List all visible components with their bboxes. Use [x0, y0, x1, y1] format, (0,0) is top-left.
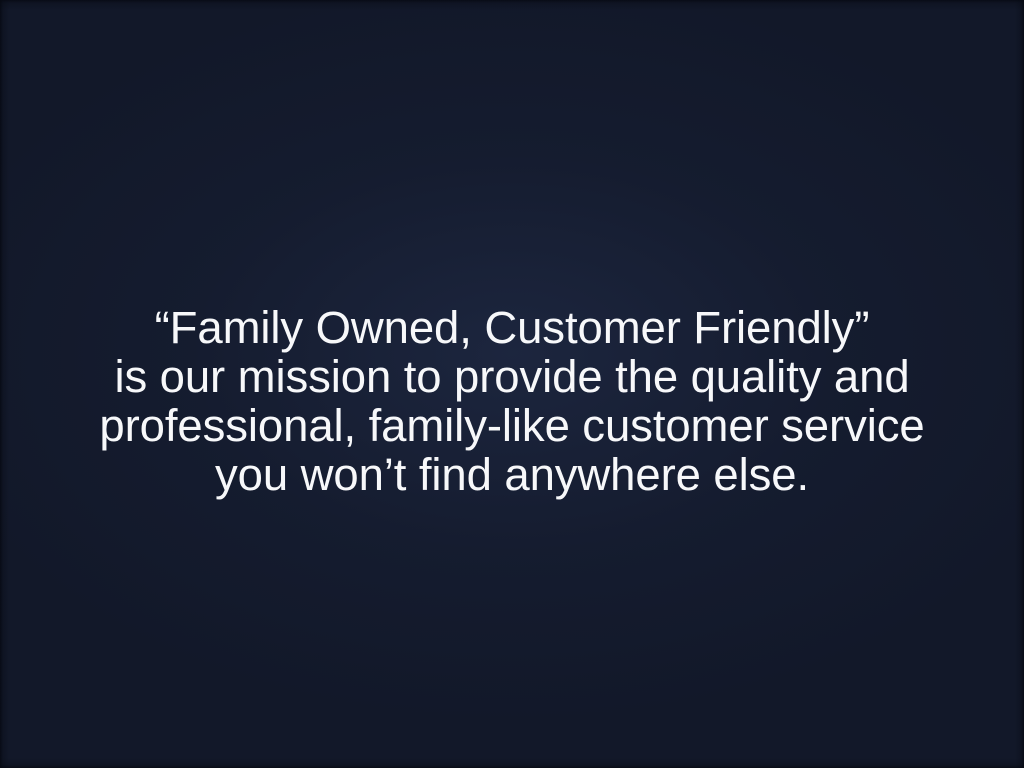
slide-canvas: “Family Owned, Customer Friendly” is our… [0, 0, 1024, 768]
mission-statement-block: “Family Owned, Customer Friendly” is our… [0, 303, 1024, 499]
quote-line-4: you won’t find anywhere else. [56, 450, 968, 499]
quote-line-1: “Family Owned, Customer Friendly” [56, 303, 968, 352]
quote-line-2: is our mission to provide the quality an… [56, 352, 968, 401]
quote-line-3: professional, family-like customer servi… [56, 401, 968, 450]
